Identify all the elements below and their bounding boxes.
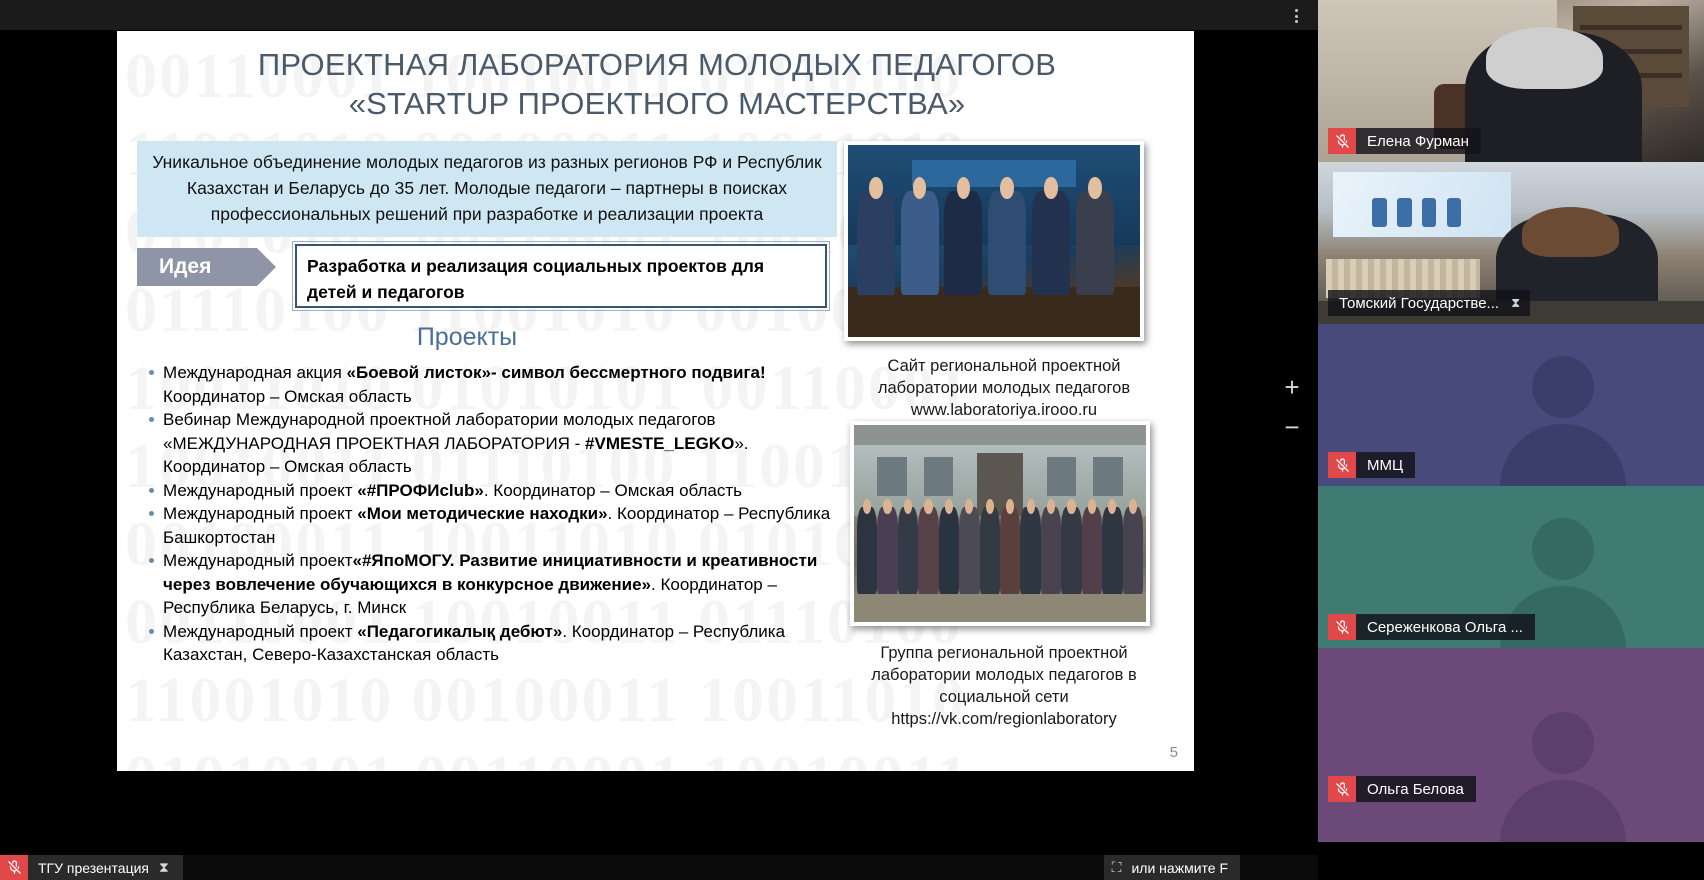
fullscreen-icon: ⛶ xyxy=(1112,859,1122,876)
project-bold: #VMESTE_LEGKO xyxy=(585,434,734,453)
project-pre: Международный проект xyxy=(163,504,357,523)
idea-tag: Идея xyxy=(137,248,257,286)
video-conference-window: 00110001 10010011 01110100 11001010 0010… xyxy=(0,0,1704,880)
project-bold: «#ПРОФИclub» xyxy=(357,481,484,500)
intro-description-box: Уникальное объединение молодых педагогов… xyxy=(137,141,837,237)
participant-name: Елена Фурман xyxy=(1356,133,1481,150)
participant-name-tag: Елена Фурман xyxy=(1328,128,1481,154)
participant-name-tag: Ольга Белова xyxy=(1328,776,1476,802)
participant-name: Томский Государстве... xyxy=(1328,295,1511,312)
microphone-muted-icon xyxy=(1328,614,1356,640)
hourglass-icon: ⧗ xyxy=(149,859,169,876)
participant-name: Сереженкова Ольга ... xyxy=(1356,619,1535,636)
project-bold: «Мои методические находки» xyxy=(357,504,607,523)
fullscreen-hint-label: или нажмите F xyxy=(1121,860,1228,876)
microphone-muted-icon xyxy=(1328,776,1356,802)
list-item: Международный проект «Педагогикалық дебю… xyxy=(141,620,831,667)
slide-title-line-1: ПРОЕКТНАЯ ЛАБОРАТОРИЯ МОЛОДЫХ ПЕДАГОГОВ xyxy=(177,45,1137,84)
photo-award-ceremony xyxy=(844,141,1144,341)
participant-name: Ольга Белова xyxy=(1356,781,1476,798)
participant-name-tag: Томский Государстве... ⧗ xyxy=(1328,290,1530,316)
list-item: Международная акция «Боевой листок»- сим… xyxy=(141,361,831,408)
presentation-slide: 00110001 10010011 01110100 11001010 0010… xyxy=(117,31,1194,771)
zoom-out-button[interactable]: − xyxy=(1275,410,1309,444)
projects-list: Международная акция «Боевой листок»- сим… xyxy=(141,361,831,667)
participant-tile-1[interactable]: Томский Государстве... ⧗ xyxy=(1318,162,1704,324)
project-bold: «Боевой листок»- символ бессмертного под… xyxy=(347,363,766,382)
hourglass-icon: ⧗ xyxy=(1511,295,1530,311)
stage-topbar xyxy=(0,0,1318,30)
participant-name-tag: Сереженкова Ольга ... xyxy=(1328,614,1535,640)
idea-row: Идея Разработка и реализация социальных … xyxy=(137,244,907,310)
project-pre: Международная акция xyxy=(163,363,347,382)
project-bold: «Педагогикалық дебют» xyxy=(357,622,562,641)
slide-title-line-2: «STARTUP ПРОЕКТНОГО МАСТЕРСТВА» xyxy=(177,84,1137,123)
microphone-muted-icon xyxy=(0,855,28,880)
photo-group-outdoors xyxy=(850,421,1150,626)
share-presenter-label: ТГУ презентация xyxy=(28,860,149,876)
stage-zoom-controls: + − xyxy=(1275,370,1309,444)
share-presenter-chip[interactable]: ТГУ презентация ⧗ xyxy=(0,855,183,880)
participant-name-tag: ММЦ xyxy=(1328,452,1415,478)
microphone-muted-icon xyxy=(1328,452,1356,478)
microphone-muted-icon xyxy=(1328,128,1356,154)
stage-bottom-bar: ТГУ презентация ⧗ ⛶ или нажмите F xyxy=(0,855,1318,880)
participant-tile-4[interactable]: Ольга Белова xyxy=(1318,648,1704,842)
participant-tile-0[interactable]: Елена Фурман xyxy=(1318,0,1704,162)
slide-number: 5 xyxy=(1170,744,1178,761)
project-pre: Международный проект xyxy=(163,481,357,500)
page-title: ПРОЕКТНАЯ ЛАБОРАТОРИЯ МОЛОДЫХ ПЕДАГОГОВ … xyxy=(177,45,1137,123)
caption-social-group: Группа региональной проектной лаборатори… xyxy=(844,642,1164,730)
list-item: Международный проект«#ЯпоМОГУ. Развитие … xyxy=(141,549,831,620)
list-item: Международный проект «#ПРОФИclub». Коорд… xyxy=(141,479,831,503)
fullscreen-hint-chip[interactable]: ⛶ или нажмите F xyxy=(1104,855,1240,880)
participant-name: ММЦ xyxy=(1356,457,1415,474)
more-options-icon[interactable] xyxy=(1288,8,1304,24)
project-pre: Международный проект xyxy=(163,622,357,641)
avatar xyxy=(1500,706,1626,842)
participant-tile-2[interactable]: ММЦ xyxy=(1318,324,1704,486)
media-column: Сайт региональной проектной лаборатории … xyxy=(844,141,1174,730)
participant-tile-3[interactable]: Сереженкова Ольга ... xyxy=(1318,486,1704,648)
list-item: Международный проект «Мои методические н… xyxy=(141,502,831,549)
list-item: Вебинар Международной проектной лаборато… xyxy=(141,408,831,479)
project-pre: Международный проект xyxy=(163,551,353,570)
participant-sidebar: Елена Фурман Томский Государстве... ⧗ xyxy=(1318,0,1704,880)
projects-heading: Проекты xyxy=(267,323,667,352)
zoom-in-button[interactable]: + xyxy=(1275,370,1309,404)
project-post: Координатор – Омская область xyxy=(163,387,412,406)
idea-text: Разработка и реализация социальных проек… xyxy=(295,244,827,308)
shared-screen-stage: 00110001 10010011 01110100 11001010 0010… xyxy=(0,0,1318,855)
project-post: . Координатор – Омская область xyxy=(484,481,742,500)
caption-website: Сайт региональной проектной лаборатории … xyxy=(844,355,1164,421)
avatar xyxy=(1500,350,1626,486)
